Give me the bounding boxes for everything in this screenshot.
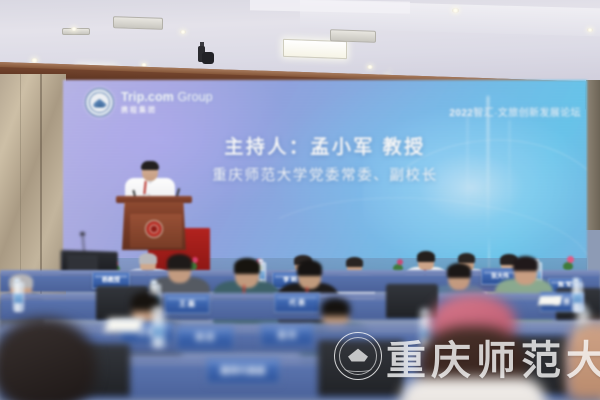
air-vent: [330, 29, 376, 43]
name-card-band: [179, 329, 231, 332]
downlight: [71, 27, 77, 31]
brand-name-en: Trip.com Group: [121, 91, 213, 104]
forum-title: 2022智汇·文旅创新发展论坛: [449, 104, 581, 119]
name-card-band: [263, 327, 311, 330]
downlight: [180, 30, 186, 34]
downlight: [452, 8, 459, 13]
attendee-hair: [167, 254, 192, 270]
attendee-hair: [447, 263, 471, 278]
screen-headline: 主持人：孟小军 教授: [63, 132, 587, 159]
brand-name-cn: 携程集团: [121, 107, 213, 114]
name-card-label: 嘉 宾: [278, 332, 296, 340]
downlight: [367, 65, 373, 69]
woman-in-pink-beret: [396, 300, 544, 400]
name-card: 教师代表席: [206, 358, 280, 384]
wall-right: [586, 80, 600, 230]
name-card-label: 教 授: [196, 334, 214, 342]
presenter-hair: [141, 161, 159, 170]
attendee-hair: [513, 256, 538, 271]
ceiling-projector-lens: [202, 52, 214, 64]
bottle-cap: [153, 307, 161, 313]
foreground-attendee-right: [566, 322, 600, 400]
seal-mark: [92, 99, 107, 108]
chair-back: [318, 340, 404, 396]
microphone-head: [80, 232, 85, 236]
recessed-panel-light: [283, 39, 347, 59]
air-vent: [113, 16, 163, 30]
name-card-label: 教师代表席: [220, 367, 265, 376]
name-card-band: [209, 361, 277, 364]
bottle-cap: [573, 278, 579, 283]
lectern-top: [116, 196, 192, 203]
downlight: [587, 28, 593, 32]
university-round-emblem: [145, 220, 163, 238]
attendee-hair: [297, 260, 322, 276]
name-card: 嘉 宾: [260, 324, 314, 347]
bottle-cap: [151, 280, 157, 285]
brand-lockup: Trip.com Group 携程集团: [85, 88, 213, 117]
attendee-hair: [234, 258, 260, 274]
ceiling-soffit-secondary: [250, 0, 410, 14]
name-card: 教 授: [176, 326, 234, 350]
water-bottle: [152, 312, 165, 348]
brand-text: Trip.com Group 携程集团: [121, 91, 213, 114]
bottle-cap: [578, 305, 586, 311]
shoulders-white-top: [400, 378, 546, 400]
conference-photo: 2022 2022 Trip.com Group 携程集团 2022智汇·文旅创…: [0, 0, 600, 400]
bottle-cap: [14, 278, 20, 283]
trip-com-group-seal-icon: [85, 88, 114, 117]
document-paper: [104, 318, 143, 332]
attendee-hair: [321, 298, 350, 316]
